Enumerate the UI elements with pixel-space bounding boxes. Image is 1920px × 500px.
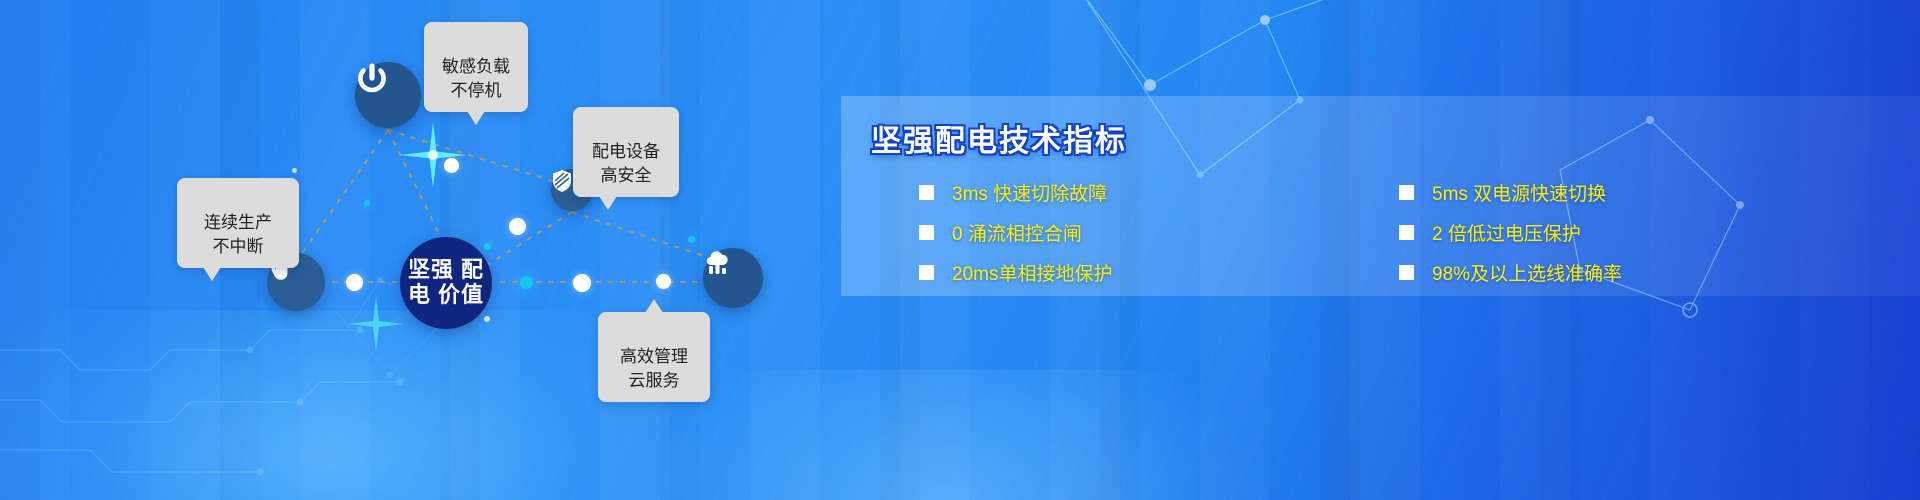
node-cloud-service[interactable] bbox=[703, 248, 763, 308]
bullet-square-icon bbox=[919, 225, 934, 240]
accent-dot-c bbox=[292, 168, 297, 173]
tech-metric-label: 20ms单相接地保护 bbox=[952, 259, 1112, 286]
accent-dot-e bbox=[688, 236, 695, 243]
tech-metric-item: 98%及以上选线准确率 bbox=[1399, 259, 1909, 286]
tech-metric-item: 0 涌流相控合闸 bbox=[919, 219, 1209, 246]
tech-metrics-list: 3ms 快速切除故障5ms 双电源快速切换0 涌流相控合闸2 倍低过电压保护20… bbox=[919, 172, 1909, 292]
callout-cloud-service-text: 高效管理 云服务 bbox=[620, 347, 688, 389]
power-icon bbox=[355, 62, 389, 96]
bullet-square-icon bbox=[919, 265, 934, 280]
accent-dot-d bbox=[364, 200, 370, 206]
tech-metric-item: 2 倍低过电压保护 bbox=[1399, 219, 1909, 246]
callout-sensitive-load[interactable]: 敏感负载 不停机 bbox=[424, 22, 528, 112]
connector-dot-left bbox=[346, 274, 363, 291]
tech-metric-label: 3ms 快速切除故障 bbox=[952, 179, 1107, 206]
tech-metric-label: 0 涌流相控合闸 bbox=[952, 219, 1082, 246]
callout-continuous-production[interactable]: 连续生产 不中断 bbox=[177, 178, 299, 268]
banner-stage: 坚强 配电 价值 敏感负载 不停机 配电设备 高安全 连续生产 不中断 高效管理… bbox=[0, 0, 1920, 500]
accent-dot-a bbox=[484, 316, 490, 322]
connector-dot-top bbox=[444, 158, 459, 173]
node-sensitive-load[interactable] bbox=[355, 62, 421, 128]
bullet-square-icon bbox=[1399, 225, 1414, 240]
connector-dot-right bbox=[573, 274, 591, 292]
tech-metric-label: 98%及以上选线准确率 bbox=[1432, 259, 1622, 286]
connector-dot-far-right bbox=[656, 274, 671, 289]
core-value-label: 坚强 配电 价值 bbox=[400, 258, 492, 307]
callout-cloud-service[interactable]: 高效管理 云服务 bbox=[598, 312, 710, 402]
tech-metric-item: 5ms 双电源快速切换 bbox=[1399, 179, 1909, 206]
bullet-square-icon bbox=[1399, 185, 1414, 200]
shield-icon bbox=[551, 169, 573, 193]
callout-distribution-safety-text: 配电设备 高安全 bbox=[592, 142, 660, 184]
value-network-diagram: 坚强 配电 价值 敏感负载 不停机 配电设备 高安全 连续生产 不中断 高效管理… bbox=[0, 0, 840, 500]
bullet-square-icon bbox=[1399, 265, 1414, 280]
node-core-value[interactable]: 坚强 配电 价值 bbox=[400, 237, 492, 329]
panel-title: 坚强配电技术指标 bbox=[871, 116, 1127, 160]
bullet-square-icon bbox=[919, 185, 934, 200]
tech-metric-item: 20ms单相接地保护 bbox=[919, 259, 1209, 286]
callout-continuous-production-text: 连续生产 不中断 bbox=[204, 213, 272, 255]
tech-metric-label: 5ms 双电源快速切换 bbox=[1432, 179, 1606, 206]
tech-metric-item: 3ms 快速切除故障 bbox=[919, 179, 1209, 206]
accent-dot-b bbox=[484, 243, 491, 250]
tech-metric-label: 2 倍低过电压保护 bbox=[1432, 219, 1581, 246]
bar-chart-icon bbox=[703, 248, 733, 276]
tech-metrics-panel: 坚强配电技术指标 3ms 快速切除故障5ms 双电源快速切换0 涌流相控合闸2 … bbox=[841, 96, 1920, 296]
connector-dot-upper-right bbox=[509, 218, 526, 235]
callout-distribution-safety[interactable]: 配电设备 高安全 bbox=[573, 107, 679, 197]
connector-dot-cyan bbox=[520, 276, 533, 289]
callout-sensitive-load-text: 敏感负载 不停机 bbox=[442, 57, 510, 99]
